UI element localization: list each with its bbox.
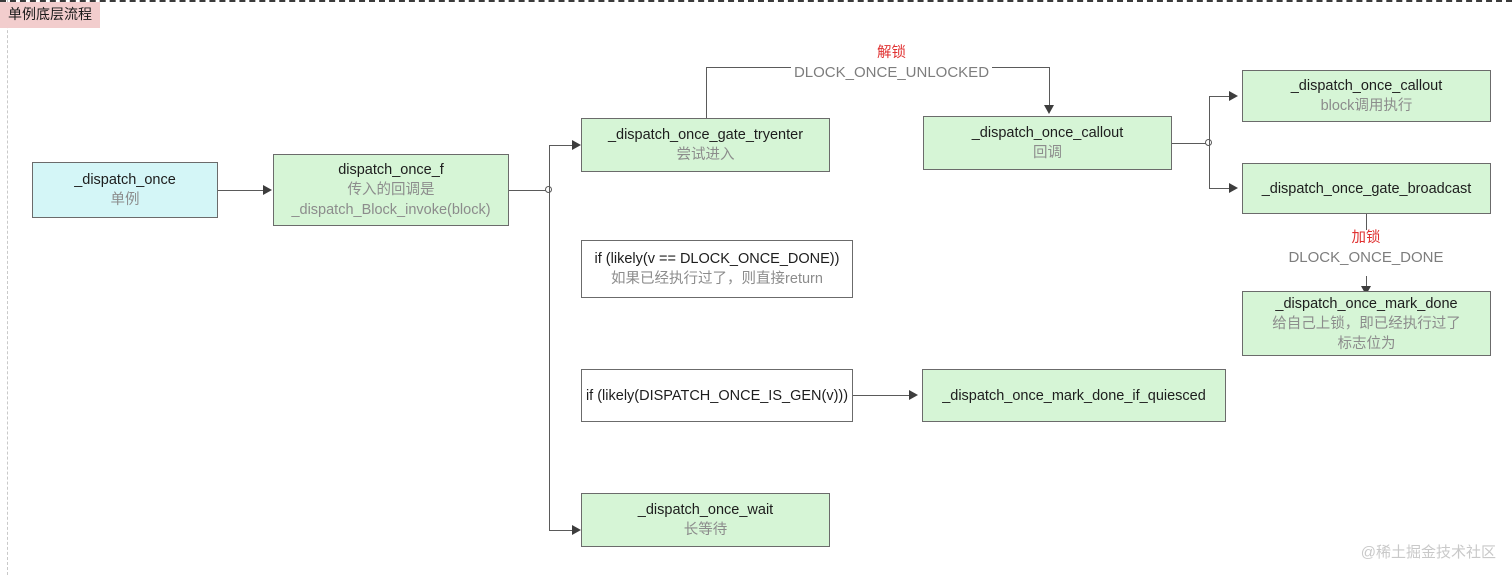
node-callout-mid[interactable]: _dispatch_once_callout 回调	[923, 116, 1172, 170]
node-mark-done-line2: 给自己上锁，即已经执行过了	[1272, 314, 1461, 334]
node-callout-mid-line2: 回调	[1033, 143, 1062, 163]
arrowhead-spine-to-wait	[572, 525, 581, 535]
arrowhead-isgen-to-quiesced	[909, 390, 918, 400]
diagram-canvas: 单例底层流程 解锁 DLOCK_ONCE_UNLOCKED 加锁 DLOCK_O	[0, 0, 1512, 575]
node-if-is-gen[interactable]: if (likely(DISPATCH_ONCE_IS_GEN(v)))	[581, 369, 853, 422]
node-callout-right-line2: block调用执行	[1321, 96, 1413, 116]
node-once-wait[interactable]: _dispatch_once_wait 长等待	[581, 493, 830, 547]
watermark-text: @稀土掘金技术社区	[1361, 543, 1496, 563]
node-if-done-line1: if (likely(v == DLOCK_ONCE_DONE))	[595, 249, 840, 269]
node-mark-done-line3: 标志位为	[1338, 334, 1396, 354]
canvas-left-guide	[7, 0, 8, 575]
node-once-wait-line2: 长等待	[684, 520, 728, 540]
node-gate-tryenter-line2: 尝试进入	[677, 145, 735, 165]
node-once-wait-line1: _dispatch_once_wait	[638, 500, 773, 520]
node-dispatch-once-line2: 单例	[111, 190, 140, 210]
node-mark-done[interactable]: _dispatch_once_mark_done 给自己上锁，即已经执行过了 标…	[1242, 291, 1491, 356]
node-dispatch-once[interactable]: _dispatch_once 单例	[32, 162, 218, 218]
connector-rjunction-down	[1209, 143, 1210, 189]
node-if-done-line2: 如果已经执行过了，则直接return	[611, 269, 823, 289]
node-dispatch-once-f-line3: _dispatch_Block_invoke(block)	[291, 200, 490, 220]
edge-label-lock-red: 加锁	[1256, 229, 1476, 248]
connector-broadcast-to-label	[1366, 214, 1367, 230]
arrowhead-once-to-oncef	[263, 185, 272, 195]
connector-rjunction-to-callout-right	[1209, 96, 1231, 97]
node-dispatch-once-f-line1: dispatch_once_f	[338, 160, 444, 180]
canvas-top-guide	[0, 0, 1512, 2]
connector-unlock-across-right	[992, 67, 1050, 68]
node-callout-right-line1: _dispatch_once_callout	[1291, 76, 1443, 96]
node-mark-done-line1: _dispatch_once_mark_done	[1275, 294, 1457, 314]
node-dispatch-once-f-line2: 传入的回调是	[348, 180, 435, 200]
connector-rjunction-to-broadcast	[1209, 188, 1231, 189]
connector-unlock-down	[1049, 67, 1050, 107]
edge-label-lock: 加锁 DLOCK_ONCE_DONE	[1256, 229, 1476, 268]
node-dispatch-once-line1: _dispatch_once	[74, 170, 176, 190]
node-if-done[interactable]: if (likely(v == DLOCK_ONCE_DONE)) 如果已经执行…	[581, 240, 853, 298]
node-callout-right[interactable]: _dispatch_once_callout block调用执行	[1242, 70, 1491, 122]
connector-oncef-to-junction	[509, 190, 547, 191]
node-gate-tryenter-line1: _dispatch_once_gate_tryenter	[608, 125, 803, 145]
node-gate-broadcast[interactable]: _dispatch_once_gate_broadcast	[1242, 163, 1491, 214]
node-mark-done-if-quiesced[interactable]: _dispatch_once_mark_done_if_quiesced	[922, 369, 1226, 422]
connector-spine-to-tryenter	[549, 145, 574, 146]
node-mark-done-if-quiesced-line1: _dispatch_once_mark_done_if_quiesced	[942, 386, 1206, 406]
diagram-title-badge: 单例底层流程	[0, 2, 100, 28]
edge-label-lock-gray: DLOCK_ONCE_DONE	[1256, 248, 1476, 268]
connector-unlock-across-left	[706, 67, 791, 68]
node-if-is-gen-line1: if (likely(DISPATCH_ONCE_IS_GEN(v)))	[586, 386, 848, 406]
connector-once-to-oncef	[218, 190, 263, 191]
connector-unlock-up	[706, 67, 707, 119]
connector-isgen-to-quiesced	[853, 395, 911, 396]
edge-label-unlock: 解锁 DLOCK_ONCE_UNLOCKED	[791, 44, 992, 83]
connector-rjunction-up	[1209, 96, 1210, 143]
connector-callout-to-junction	[1172, 143, 1209, 144]
edge-label-unlock-gray: DLOCK_ONCE_UNLOCKED	[791, 63, 992, 83]
node-callout-mid-line1: _dispatch_once_callout	[972, 123, 1124, 143]
edge-label-unlock-red: 解锁	[791, 44, 992, 63]
connector-spine-to-wait	[549, 530, 574, 531]
node-gate-tryenter[interactable]: _dispatch_once_gate_tryenter 尝试进入	[581, 118, 830, 172]
node-gate-broadcast-line1: _dispatch_once_gate_broadcast	[1262, 179, 1472, 199]
connector-branch-spine	[549, 145, 550, 530]
arrowhead-to-callout-right	[1229, 91, 1238, 101]
arrowhead-to-broadcast	[1229, 183, 1238, 193]
node-dispatch-once-f[interactable]: dispatch_once_f 传入的回调是 _dispatch_Block_i…	[273, 154, 509, 226]
arrowhead-spine-to-tryenter	[572, 140, 581, 150]
arrowhead-unlock-into-callout	[1044, 105, 1054, 114]
